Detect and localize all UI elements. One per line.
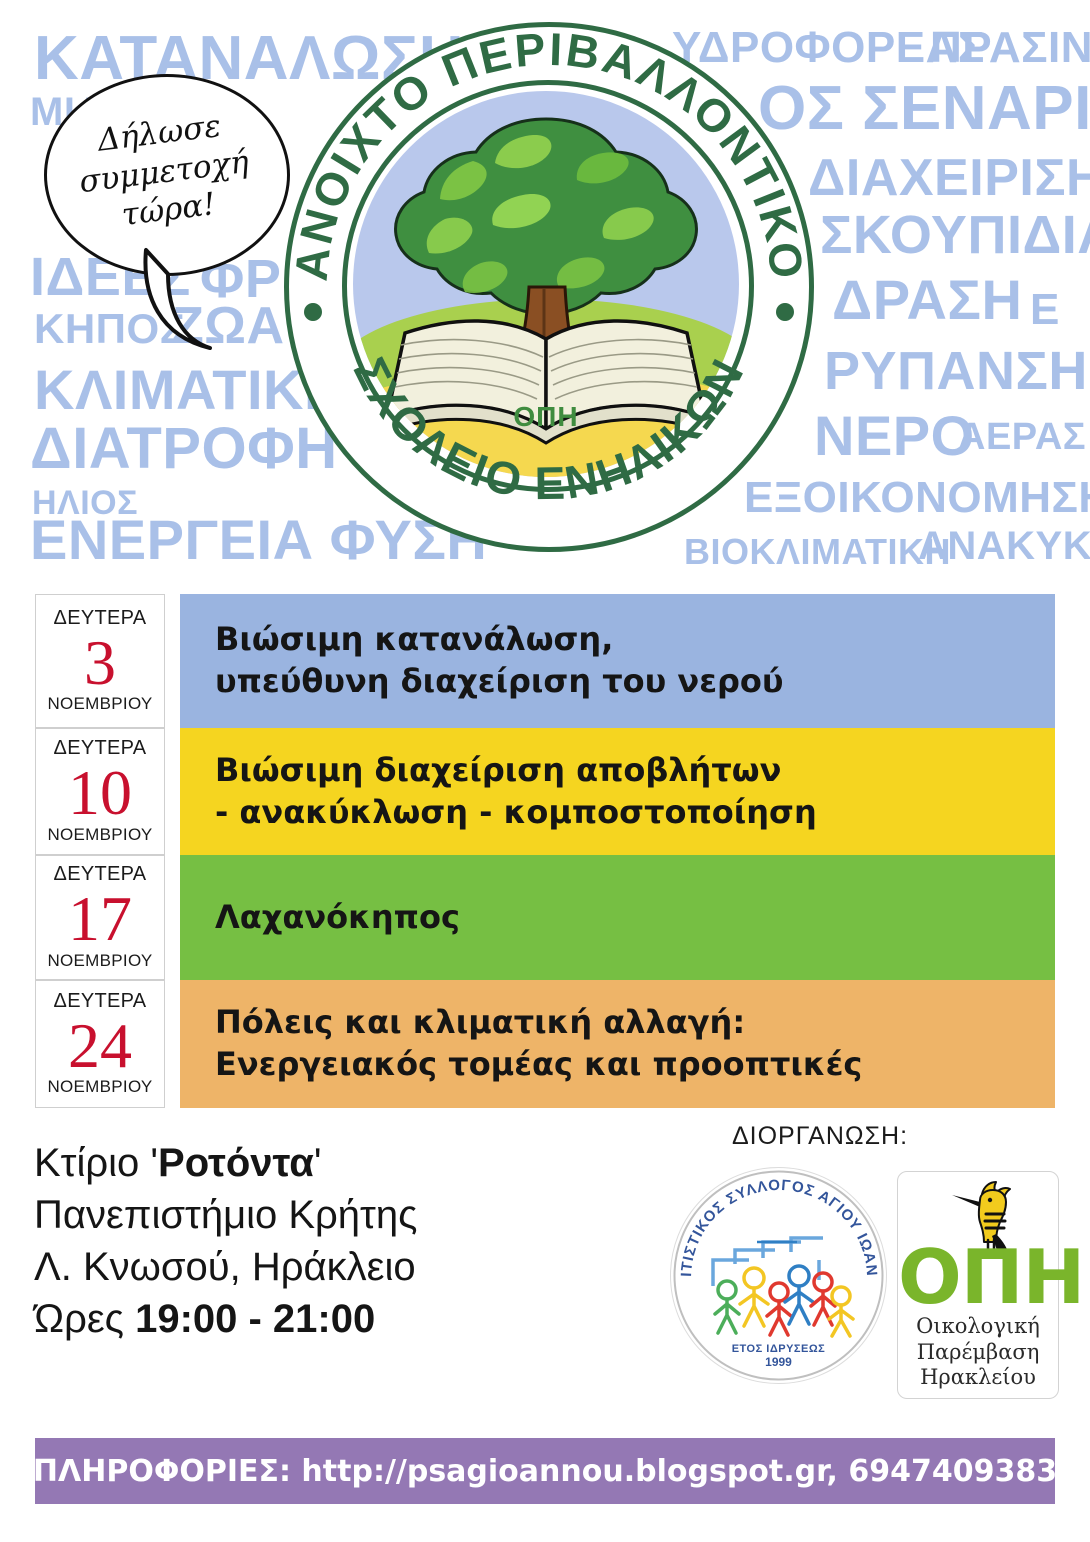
day-number: 24 [68, 1013, 132, 1078]
day-number: 17 [68, 886, 132, 951]
school-emblem: ΟΠΗ ΑΝΟΙΧΤΟ ΠΕΡΙΒΑΛΛΟΝΤΙΚΟ ΣΧΟΛΕΙΟ ΕΝΗΛΙ… [284, 22, 814, 552]
month-name: ΝΟΕΜΒΡΙΟΥ [47, 1078, 152, 1095]
day-of-week: ΔΕΥΤΕΡΑ [54, 864, 147, 884]
info-footer-text: ΠΛΗΡΟΦΟΡΙΕΣ: http://psagioannou.blogspot… [33, 1454, 1057, 1489]
opi-letters: ΟΠΗ [898, 1240, 1058, 1315]
topic-line-1: Βιώσιμη διαχείριση αποβλήτων [215, 751, 781, 789]
day-number: 10 [68, 760, 132, 825]
organiser-logos: ΠΟΛΙΤΙΣΤΙΚΟΣ ΣΥΛΛΟΓΟΣ ΑΓΙΟΥ ΙΩΑΝΝΟΥ [655, 1167, 1075, 1399]
opi-sub-line-1: Οικολογική [898, 1314, 1058, 1340]
hours-value: 19:00 - 21:00 [135, 1297, 375, 1341]
schedule-row: ΔΕΥΤΕΡΑ 3 ΝΟΕΜΒΡΙΟΥ Βιώσιμη κατανάλωση, … [35, 594, 1055, 728]
day-number: 3 [84, 630, 116, 695]
topic-line-2: - ανακύκλωση - κομποστοποίηση [215, 793, 817, 831]
topic-cell: Πόλεις και κλιματική αλλαγή: Ενεργειακός… [180, 980, 1055, 1108]
month-name: ΝΟΕΜΒΡΙΟΥ [47, 695, 152, 712]
bubble-text: Δήλωσε συμμετοχή τώρα! [33, 60, 295, 284]
wordcloud-word: ΝΕΡΟ [814, 408, 975, 464]
opi-sub-line-2: Παρέμβαση [898, 1340, 1058, 1366]
emblem-arc-text: ΑΝΟΙΧΤΟ ΠΕΡΙΒΑΛΛΟΝΤΙΚΟ ΣΧΟΛΕΙΟ ΕΝΗΛΙΚΩΝ [284, 22, 814, 552]
cultural-association-seal: ΠΟΛΙΤΙΣΤΙΚΟΣ ΣΥΛΛΟΓΟΣ ΑΓΙΟΥ ΙΩΑΝΝΟΥ [670, 1167, 887, 1384]
venue-building-prefix: Κτίριο ' [34, 1141, 158, 1185]
topic-line-1: Βιώσιμη κατανάλωση, [215, 620, 613, 658]
hours-label: Ώρες [34, 1297, 135, 1341]
seal-founded-year: 1999 [765, 1355, 792, 1369]
wordcloud-word: ΑΕΡΑΣ [958, 418, 1086, 456]
seal-founded-label: ΕΤΟΣ ΙΔΡΥΣΕΩΣ [732, 1343, 826, 1355]
month-name: ΝΟΕΜΒΡΙΟΥ [47, 826, 152, 843]
poster-root: ΚΑΤΑΝΑΛΩΣΗ ΜΙΑ ΥΔΡΟΦΟΡΕΑΣ ΠΡΑΣΙΝΟ ΟΣ ΣΕΝ… [0, 0, 1090, 1542]
topic-line-1: Λαχανόκηπος [215, 898, 460, 936]
topic-line-2: υπεύθυνη διαχείριση του νερού [215, 662, 784, 700]
date-cell: ΔΕΥΤΕΡΑ 3 ΝΟΕΜΒΡΙΟΥ [35, 594, 165, 728]
venue-line-3: Λ. Κνωσού, Ηράκλειο [34, 1241, 644, 1293]
topic-text: Βιώσιμη κατανάλωση, υπεύθυνη διαχείριση … [215, 619, 784, 702]
topic-line-1: Πόλεις και κλιματική αλλαγή: [215, 1003, 745, 1041]
venue-line-1: Κτίριο 'Ροτόντα' [34, 1137, 644, 1189]
topic-text: Πόλεις και κλιματική αλλαγή: Ενεργειακός… [215, 1002, 862, 1085]
day-of-week: ΔΕΥΤΕΡΑ [54, 608, 147, 628]
opi-sub-line-3: Ηρακλείου [898, 1365, 1058, 1391]
venue-line-4: Ώρες 19:00 - 21:00 [34, 1293, 644, 1345]
opi-logo: ΟΠΗ Οικολογική Παρέμβαση Ηρακλείου [897, 1171, 1059, 1399]
call-to-action-bubble: Δήλωσε συμμετοχή τώρα! [44, 74, 314, 374]
topic-text: Λαχανόκηπος [215, 897, 460, 939]
date-cell: ΔΕΥΤΕΡΑ 10 ΝΟΕΜΒΡΙΟΥ [35, 728, 165, 855]
seal-graphic: ΠΟΛΙΤΙΣΤΙΚΟΣ ΣΥΛΛΟΓΟΣ ΑΓΙΟΥ ΙΩΑΝΝΟΥ [671, 1168, 886, 1383]
month-name: ΝΟΕΜΒΡΙΟΥ [47, 952, 152, 969]
emblem-arc-top-text: ΑΝΟΙΧΤΟ ΠΕΡΙΒΑΛΛΟΝΤΙΚΟ [285, 22, 814, 283]
venue-block: Κτίριο 'Ροτόντα' Πανεπιστήμιο Κρήτης Λ. … [34, 1137, 644, 1345]
topic-cell: Λαχανόκηπος [180, 855, 1055, 980]
schedule-row: ΔΕΥΤΕΡΑ 10 ΝΟΕΜΒΡΙΟΥ Βιώσιμη διαχείριση … [35, 728, 1055, 855]
organisers-block: ΔΙΟΡΓΑΝΩΣΗ: ΠΟΛΙΤΙΣΤΙΚΟΣ ΣΥΛΛΟΓΟΣ ΑΓΙΟΥ … [655, 1122, 1075, 1399]
venue-line-2: Πανεπιστήμιο Κρήτης [34, 1189, 644, 1241]
day-of-week: ΔΕΥΤΕΡΑ [54, 738, 147, 758]
wordcloud-word: ΑΝΑΚΥΚ [918, 526, 1090, 566]
venue-building-suffix: ' [314, 1141, 322, 1185]
emblem-arc-bottom-text: ΣΧΟΛΕΙΟ ΕΝΗΛΙΚΩΝ [344, 349, 755, 509]
wordcloud-word: ΠΡΑΣΙΝΟ [930, 26, 1090, 70]
organisers-label: ΔΙΟΡΓΑΝΩΣΗ: [655, 1122, 985, 1151]
topic-cell: Βιώσιμη διαχείριση αποβλήτων - ανακύκλωσ… [180, 728, 1055, 855]
schedule-row: ΔΕΥΤΕΡΑ 17 ΝΟΕΜΒΡΙΟΥ Λαχανόκηπος [35, 855, 1055, 980]
schedule-row: ΔΕΥΤΕΡΑ 24 ΝΟΕΜΒΡΙΟΥ Πόλεις και κλιματικ… [35, 980, 1055, 1108]
wordcloud-word: ΡΥΠΑΝΣΗ [824, 344, 1088, 398]
hero-section: ΚΑΤΑΝΑΛΩΣΗ ΜΙΑ ΥΔΡΟΦΟΡΕΑΣ ΠΡΑΣΙΝΟ ΟΣ ΣΕΝ… [0, 0, 1090, 582]
venue-building-name: Ροτόντα [158, 1141, 314, 1185]
wordcloud-word: ΔΡΑΣΗ [832, 272, 1022, 328]
info-footer-bar: ΠΛΗΡΟΦΟΡΙΕΣ: http://psagioannou.blogspot… [35, 1438, 1055, 1504]
wordcloud-word: ΔΙΑΧΕΙΡΙΣΗ [808, 152, 1090, 204]
day-of-week: ΔΕΥΤΕΡΑ [54, 991, 147, 1011]
wordcloud-word: ΣΚΟΥΠΙΔΙΑ [820, 208, 1090, 262]
date-cell: ΔΕΥΤΕΡΑ 17 ΝΟΕΜΒΡΙΟΥ [35, 855, 165, 980]
topic-cell: Βιώσιμη κατανάλωση, υπεύθυνη διαχείριση … [180, 594, 1055, 728]
opi-subtitle: Οικολογική Παρέμβαση Ηρακλείου [898, 1314, 1058, 1391]
date-cell: ΔΕΥΤΕΡΑ 24 ΝΟΕΜΒΡΙΟΥ [35, 980, 165, 1108]
schedule-table: ΔΕΥΤΕΡΑ 3 ΝΟΕΜΒΡΙΟΥ Βιώσιμη κατανάλωση, … [35, 594, 1055, 1108]
topic-line-2: Ενεργειακός τομέας και προοπτικές [215, 1045, 862, 1083]
wordcloud-word: Ε [1030, 288, 1060, 332]
topic-text: Βιώσιμη διαχείριση αποβλήτων - ανακύκλωσ… [215, 750, 817, 833]
